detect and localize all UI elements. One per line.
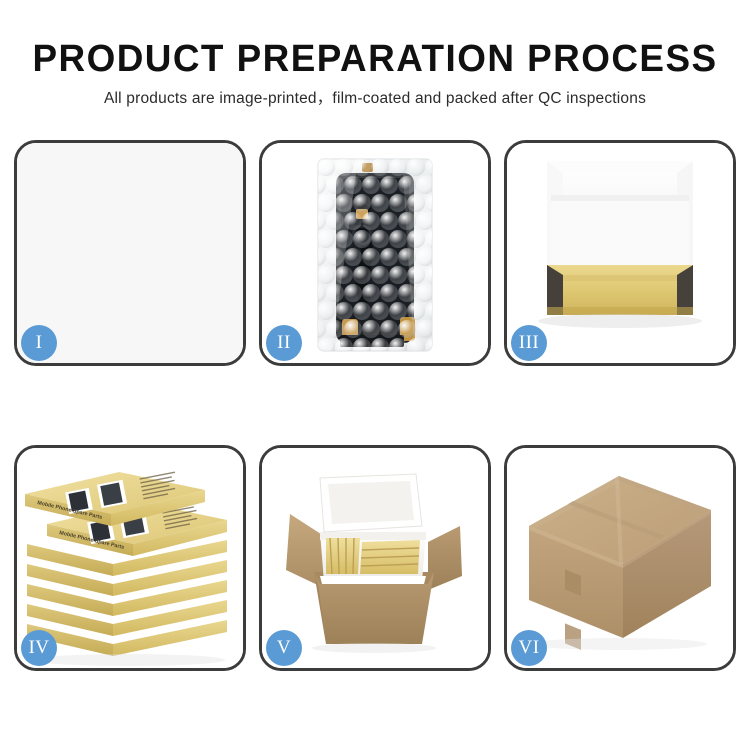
step-panel-3[interactable]: III: [504, 140, 736, 366]
process-steps-grid: I: [14, 140, 736, 672]
step-badge-6: VI: [511, 630, 547, 666]
step-panel-1[interactable]: I: [14, 140, 246, 366]
page-title: PRODUCT PREPARATION PROCESS: [11, 0, 739, 78]
step-badge-5: V: [266, 630, 302, 666]
infographic-page: PRODUCT PREPARATION PROCESS All products…: [0, 0, 750, 750]
page-subtitle: All products are image-printed，film-coat…: [0, 78, 750, 107]
step-badge-2: II: [266, 325, 302, 361]
step-panel-2[interactable]: II: [259, 140, 491, 366]
step-panel-4[interactable]: Mobile Phone Spare Parts: [14, 445, 246, 671]
step-badge-4: IV: [21, 630, 57, 666]
header: PRODUCT PREPARATION PROCESS All products…: [0, 0, 750, 107]
step-panel-5[interactable]: V: [259, 445, 491, 671]
step-badge-1: I: [21, 325, 57, 361]
step-panel-6[interactable]: VI: [504, 445, 736, 671]
step-badge-3: III: [511, 325, 547, 361]
